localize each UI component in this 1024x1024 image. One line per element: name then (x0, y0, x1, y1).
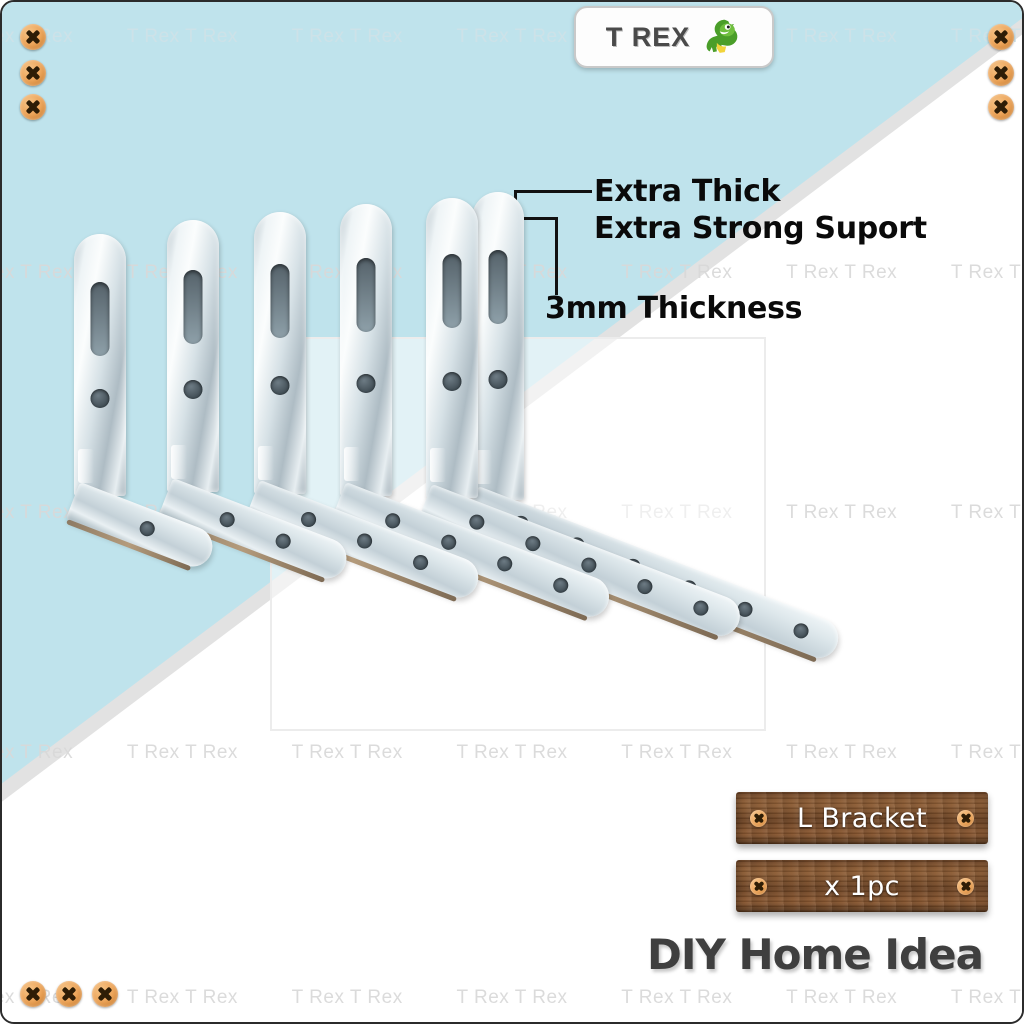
product-quantity-label: x 1pc (824, 871, 900, 902)
callout-extra-strong: Extra Strong Suport (594, 211, 927, 246)
screw-phillips-icon (750, 878, 767, 895)
brand-logo-text: T REX (606, 22, 691, 53)
dinosaur-icon (696, 14, 742, 60)
screw-phillips-icon (988, 24, 1014, 50)
footer-brand-text: DIY Home Idea (647, 930, 983, 979)
product-quantity-plaque: x 1pc (736, 860, 988, 912)
leader-line-horizontal (514, 190, 592, 193)
brand-logo: T REX (574, 6, 774, 68)
screw-phillips-icon (750, 810, 767, 827)
product-image-canvas: T Rex T Rex T Rex T Rex T Rex T Rex T Re… (0, 0, 1024, 1024)
screw-phillips-icon (20, 981, 46, 1007)
screw-phillips-icon (957, 810, 974, 827)
screw-phillips-icon (20, 24, 46, 50)
callout-extra-thick: Extra Thick (594, 174, 780, 209)
screw-phillips-icon (20, 60, 46, 86)
screw-phillips-icon (957, 878, 974, 895)
callout-thickness: 3mm Thickness (545, 291, 802, 326)
screw-phillips-icon (988, 60, 1014, 86)
screw-phillips-icon (92, 981, 118, 1007)
screw-phillips-icon (56, 981, 82, 1007)
product-name-label: L Bracket (797, 803, 927, 834)
screw-phillips-icon (988, 94, 1014, 120)
product-photo (2, 192, 1024, 772)
screw-phillips-icon (20, 94, 46, 120)
leader-line-down (555, 217, 558, 295)
product-name-plaque: L Bracket (736, 792, 988, 844)
